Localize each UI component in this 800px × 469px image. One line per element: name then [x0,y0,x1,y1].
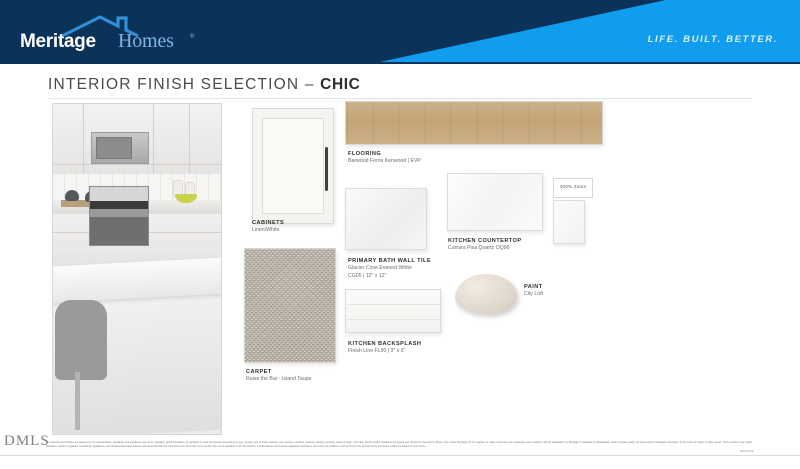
page-title: INTERIOR FINISH SELECTION – CHIC [48,76,360,94]
page-title-selection: CHIC [320,76,360,93]
footer-divider [0,455,800,456]
label-cabinets: CABINETS Linen/White [252,219,284,235]
zoom-chip: 400% Zoom [553,178,593,198]
tile-grout-line [346,319,440,320]
swatch-paint [455,274,517,314]
bar-stool-leg [75,372,80,430]
footer-disclaimer: All materials and finishes are believed … [46,441,752,449]
dmls-watermark: DMLS [4,433,50,450]
label-title-flooring: FLOORING [348,150,421,158]
header-tagline: LIFE. BUILT. BETTER. [648,34,778,45]
swatch-kitchen-countertop [447,173,543,231]
logo-word-meritage: Meritage [20,31,96,53]
label-paint: PAINT City Loft [524,283,543,299]
label-kitchen-backsplash: KITCHEN BACKSPLASH Finish Line FL90 | 3"… [348,340,421,356]
label-title-kitchen-countertop: KITCHEN COUNTERTOP [448,237,522,245]
page-header: Meritage Homes ® LIFE. BUILT. BETTER. [0,0,800,62]
label-title-kitchen-backsplash: KITCHEN BACKSPLASH [348,340,421,348]
label-title-cabinets: CABINETS [252,219,284,227]
header-diagonal-accent [380,0,800,62]
label-detail-primary-bath-wall-tile: Glacier Cove Everest White [348,265,431,273]
label-kitchen-countertop: KITCHEN COUNTERTOP Carrara Pisa Quartz O… [448,237,522,253]
page-title-prefix: INTERIOR FINISH SELECTION – [48,76,320,93]
label-title-paint: PAINT [524,283,543,291]
title-divider [48,98,752,99]
header-bottom-rule [0,62,800,64]
cabinet-pull-handle [325,147,328,191]
label-title-carpet: CARPET [246,368,311,376]
label-spec-primary-bath-wall-tile: CG05 | 12" x 12" [348,273,431,281]
swatch-primary-bath-wall-tile [345,188,427,250]
swatch-cabinets [252,108,334,224]
swatch-carpet [244,248,336,363]
footer-document-code: 0811721-NL [740,450,754,453]
kitchen-interior-photo [52,103,222,435]
label-title-primary-bath-wall-tile: PRIMARY BATH WALL TILE [348,257,431,265]
cabinet-door-panel [262,118,324,214]
zoom-chip-label: 400% Zoom [554,184,592,189]
logo-word-homes: Homes [118,30,174,53]
label-detail-paint: City Loft [524,291,543,299]
label-detail-flooring: Barwood Ferns Kenwood | EVP [348,158,421,166]
cabinet-seam [53,164,221,165]
label-carpet: CARPET Raise the Bar - Island Taupe [246,368,311,384]
meritage-homes-logo: Meritage Homes ® [18,12,228,52]
label-detail-kitchen-countertop: Carrara Pisa Quartz OQ96 [448,245,522,253]
kettle [65,190,79,201]
microwave [91,132,149,164]
label-flooring: FLOORING Barwood Ferns Kenwood | EVP [348,150,421,166]
microwave-window [96,137,132,159]
swatch-flooring [345,101,603,145]
label-detail-cabinets: Linen/White [252,227,284,235]
bar-stool [55,300,107,380]
swatch-kitchen-countertop-zoom [553,200,585,244]
label-detail-carpet: Raise the Bar - Island Taupe [246,376,311,384]
label-primary-bath-wall-tile: PRIMARY BATH WALL TILE Glacier Cove Ever… [348,257,431,280]
tile-grout-line [346,304,440,305]
logo-registered-mark: ® [190,34,194,40]
range-oven [89,186,149,246]
label-detail-kitchen-backsplash: Finish Line FL90 | 3" x 6" [348,348,421,356]
swatch-kitchen-backsplash [345,289,441,333]
